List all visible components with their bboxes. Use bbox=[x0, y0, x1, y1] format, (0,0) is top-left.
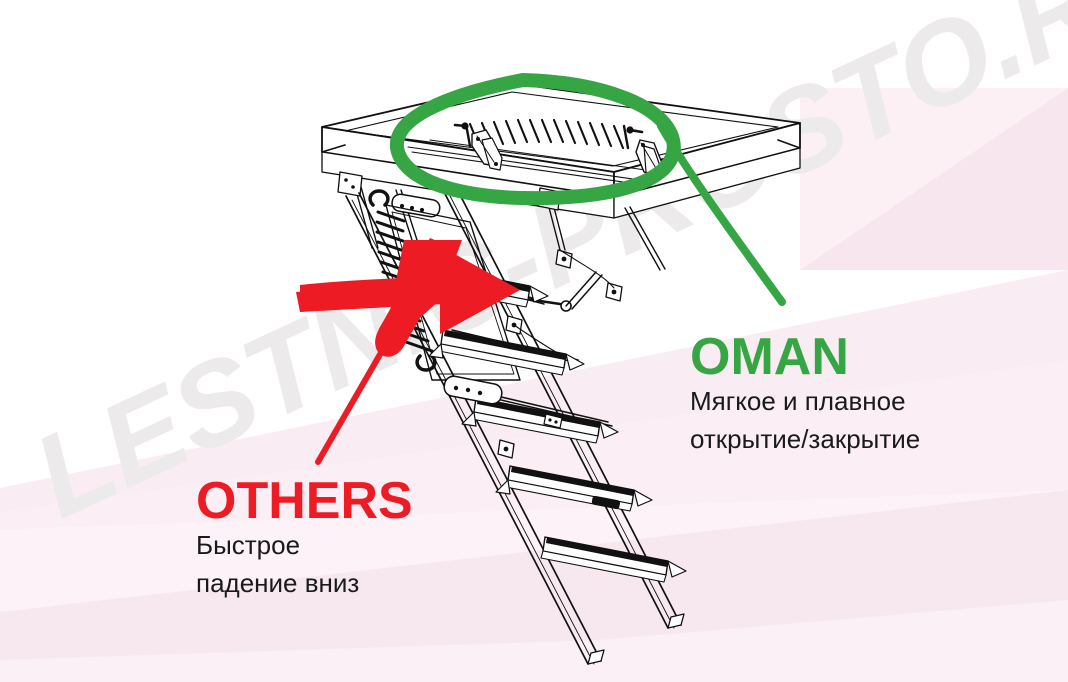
oman-description-line-1: Мягкое и плавное bbox=[690, 383, 920, 421]
oman-annotation: OMAN Мягкое и плавное открытие/закрытие bbox=[690, 331, 920, 458]
others-description: Быстрое падение вниз bbox=[196, 527, 413, 602]
others-title: OTHERS bbox=[196, 475, 413, 527]
others-annotation: OTHERS Быстрое падение вниз bbox=[196, 475, 413, 602]
red-leader-line bbox=[318, 344, 386, 462]
green-leader-line bbox=[661, 126, 782, 302]
oman-description: Мягкое и плавное открытие/закрытие bbox=[690, 383, 920, 458]
oman-title: OMAN bbox=[690, 331, 920, 383]
others-description-line-1: Быстрое bbox=[196, 527, 413, 565]
promo-comparison-image: LESTNIC-PROSTO.RU bbox=[0, 0, 1068, 682]
green-circle-marker bbox=[397, 80, 674, 198]
others-description-line-2: падение вниз bbox=[196, 565, 413, 603]
red-arrow-marker bbox=[296, 238, 520, 357]
oman-description-line-2: открытие/закрытие bbox=[690, 421, 920, 459]
